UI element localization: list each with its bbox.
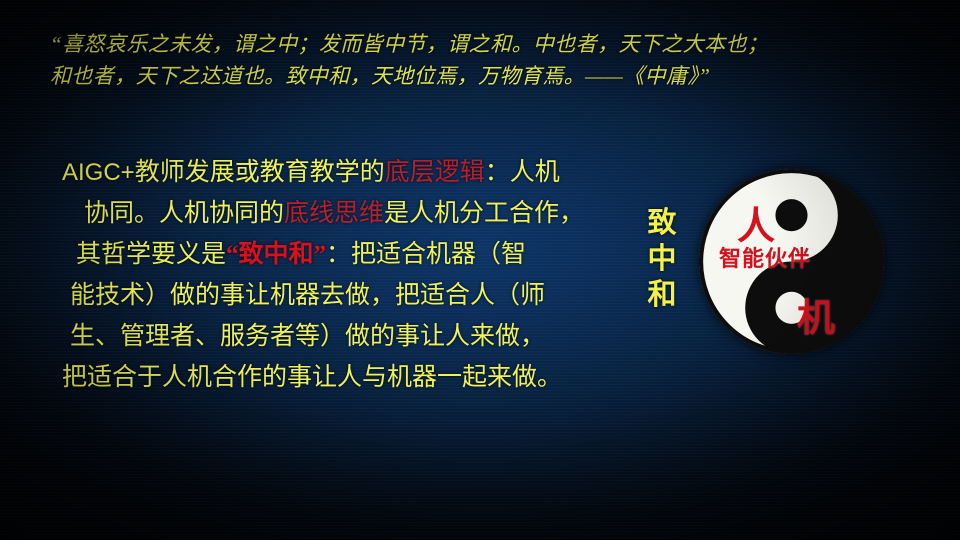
body-line-1-text: 教师发展或教育教学的 (135, 159, 385, 186)
quote-line-1: “喜怒哀乐之未发，谓之中；发而皆中节，谓之和。中也者，天下之大本也； (50, 28, 850, 60)
vertical-label-char-2: 中 (645, 241, 679, 277)
body-paragraph: AIGC+教师发展或教育教学的底层逻辑：人机 协同。人机协同的底线思维是人机分工… (62, 152, 607, 398)
vertical-label-zhizhonghe: 致 中 和 (645, 205, 679, 313)
vertical-label-char-1: 致 (645, 205, 679, 241)
aigc-token: AIGC+ (62, 159, 135, 186)
body-line-1: AIGC+教师发展或教育教学的底层逻辑：人机 (62, 152, 607, 193)
body-line-4: 能技术）做的事让机器去做，把适合人（师 (62, 275, 607, 316)
body-line-2-tail: 是人机分工合作， (384, 200, 584, 227)
body-line-6: 把适合于人机合作的事让人与机器一起来做。 (62, 357, 607, 398)
body-line-3-tail: ：把适合机器（智 (326, 241, 526, 268)
body-line-2-head: 协同。人机协同的 (84, 200, 284, 227)
highlight-bottom-line-thinking: 底线思维 (284, 200, 384, 227)
body-line-3: 其哲学要义是“致中和”：把适合机器（智 (62, 234, 607, 275)
taiji-label-ji: 机 (797, 287, 835, 342)
body-line-1-tail: ：人机 (485, 159, 560, 186)
highlight-underlying-logic: 底层逻辑 (385, 159, 485, 186)
highlight-zhizhonghe: “致中和” (226, 241, 326, 268)
body-line-3-head: 其哲学要义是 (76, 241, 226, 268)
slide-canvas: “喜怒哀乐之未发，谓之中；发而皆中节，谓之和。中也者，天下之大本也； 和也者，天… (0, 0, 960, 540)
body-line-5: 生、管理者、服务者等）做的事让人来做， (62, 316, 607, 357)
taiji-label-intelligent-partner: 智能伙伴 (719, 241, 811, 273)
body-line-2: 协同。人机协同的底线思维是人机分工合作， (62, 193, 607, 234)
vertical-label-char-3: 和 (645, 277, 679, 313)
classical-quote: “喜怒哀乐之未发，谓之中；发而皆中节，谓之和。中也者，天下之大本也； 和也者，天… (50, 28, 850, 92)
taiji-symbol: 人 智能伙伴 机 (697, 167, 886, 356)
quote-line-2: 和也者，天下之达道也。致中和，天地位焉，万物育焉。——《中庸》” (50, 60, 850, 92)
